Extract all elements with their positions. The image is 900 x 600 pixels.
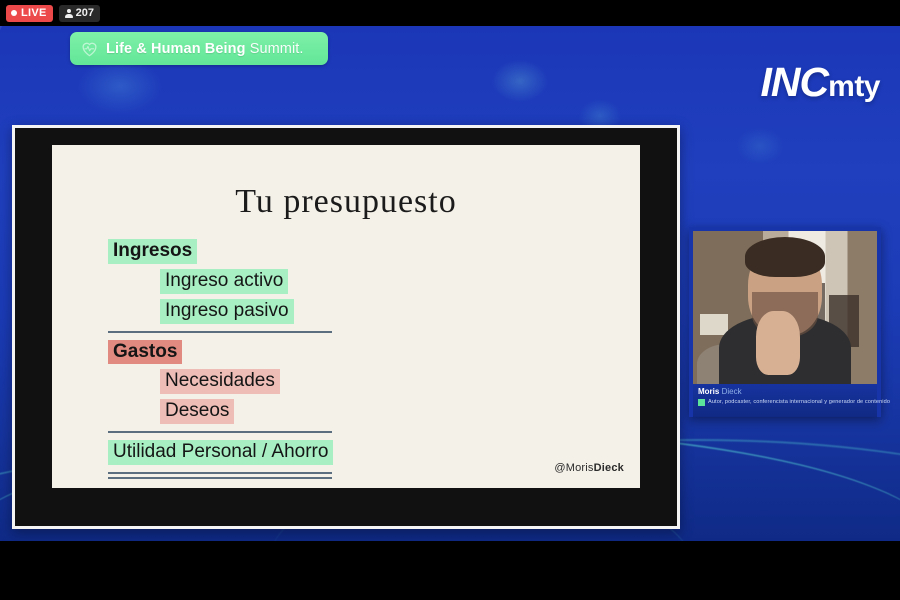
presentation-slide: Tu presupuesto Ingresos Ingreso activo I… [52, 145, 640, 488]
handle-light: @Moris [554, 462, 593, 474]
heart-pulse-icon [80, 39, 99, 58]
stream-status-bar: LIVE 207 [0, 0, 900, 26]
logo-secondary: mty [828, 70, 880, 103]
slide-divider [108, 431, 332, 433]
logo-primary: INC [761, 59, 829, 105]
speaker-subtitle-line: Autor, podcaster, conferencista internac… [698, 399, 872, 406]
speaker-first-name: Moris [698, 387, 719, 396]
slide-title: Tu presupuesto [52, 183, 640, 221]
slide-item-ingreso-pasivo: Ingreso pasivo [160, 299, 294, 324]
speaker-handle: @MorisDieck [554, 462, 624, 474]
person-icon [65, 9, 73, 18]
speaker-last-name: Dieck [722, 387, 742, 396]
summit-title-light: Summit. [246, 41, 304, 57]
slide-row: Deseos [108, 399, 640, 424]
slide-item-utilidad-ahorro: Utilidad Personal / Ahorro [108, 440, 333, 465]
slide-row: Necesidades [108, 369, 640, 394]
viewer-count-value: 207 [76, 8, 94, 19]
slide-divider [108, 477, 332, 479]
broadcast-stage: LIVE 207 Life & Human Being Summit. INCm… [0, 0, 900, 600]
speaker-nameplate: Moris Dieck Autor, podcaster, conferenci… [693, 384, 877, 417]
viewer-count-badge: 207 [59, 5, 100, 22]
handle-bold: Dieck [594, 462, 624, 474]
slide-item-ingreso-activo: Ingreso activo [160, 269, 288, 294]
slide-item-necesidades: Necesidades [160, 369, 280, 394]
slide-row: Ingreso activo [108, 269, 640, 294]
incmty-logo: INCmty [761, 62, 880, 103]
speaker-name-line: Moris Dieck [698, 387, 872, 397]
slide-item-deseos: Deseos [160, 399, 234, 424]
bottom-letterbox [0, 541, 900, 600]
speaker-hair [745, 237, 826, 277]
slide-divider [108, 331, 332, 333]
presentation-frame: Tu presupuesto Ingresos Ingreso activo I… [12, 125, 680, 529]
summit-title-bold: Life & Human Being [106, 41, 246, 57]
live-label: LIVE [21, 8, 47, 19]
summit-banner-title: Life & Human Being Summit. [106, 41, 304, 57]
room-panel [700, 314, 728, 335]
accent-square-icon [698, 399, 705, 406]
speaker-video[interactable] [693, 231, 877, 384]
slide-row: Gastos [108, 340, 640, 365]
live-badge: LIVE [6, 5, 53, 22]
live-dot-icon [11, 10, 17, 16]
slide-body: Ingresos Ingreso activo Ingreso pasivo G… [52, 239, 640, 479]
slide-row: Ingreso pasivo [108, 299, 640, 324]
speaker-subtitle: Autor, podcaster, conferencista internac… [708, 399, 890, 406]
slide-divider [108, 472, 332, 474]
speaker-hand [756, 311, 800, 375]
slide-row: Ingresos [108, 239, 640, 264]
slide-item-ingresos: Ingresos [108, 239, 197, 264]
summit-banner: Life & Human Being Summit. [70, 32, 328, 65]
slide-item-gastos: Gastos [108, 340, 182, 365]
speaker-camera-panel[interactable]: Moris Dieck Autor, podcaster, conferenci… [689, 227, 881, 417]
